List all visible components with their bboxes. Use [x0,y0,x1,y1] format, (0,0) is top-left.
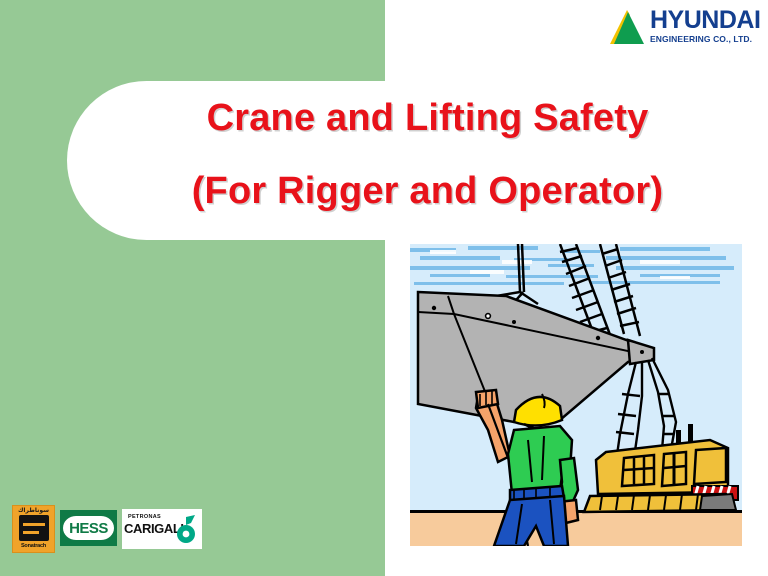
sonatrach-logo-icon [19,515,49,541]
hyundai-subtitle: ENGINEERING CO., LTD. [650,34,762,45]
title-banner: Crane and Lifting Safety (For Rigger and… [67,81,768,240]
carigali-logo-icon [174,514,198,544]
hess-logo: HESS [60,510,117,546]
hess-name: HESS [69,521,108,536]
mountain-triangle-icon [606,8,648,46]
hyundai-wordmark: HYUNDAI ENGINEERING CO., LTD. [650,7,762,45]
page-title: Crane and Lifting Safety [67,97,768,140]
sonatrach-arabic-text: سوناطراك [13,507,54,515]
crane-lifting-panel-clipart [410,244,742,546]
slide-root: HYUNDAI ENGINEERING CO., LTD. Crane and … [0,0,768,576]
page-subtitle: (For Rigger and Operator) [67,170,768,213]
hyundai-name: HYUNDAI [650,7,762,33]
hess-logo-icon: HESS [63,516,114,540]
sonatrach-name: Sonatrach [13,542,54,550]
partner-logo-strip: سوناطراك Sonatrach HESS PETRONAS CARIGAL… [12,505,202,555]
crane-illustration-svg [410,244,742,546]
petronas-label: PETRONAS [128,514,161,520]
hyundai-logo: HYUNDAI ENGINEERING CO., LTD. [606,6,762,52]
petronas-carigali-logo: PETRONAS CARIGALI [122,509,202,549]
sonatrach-logo: سوناطراك Sonatrach [12,505,55,553]
